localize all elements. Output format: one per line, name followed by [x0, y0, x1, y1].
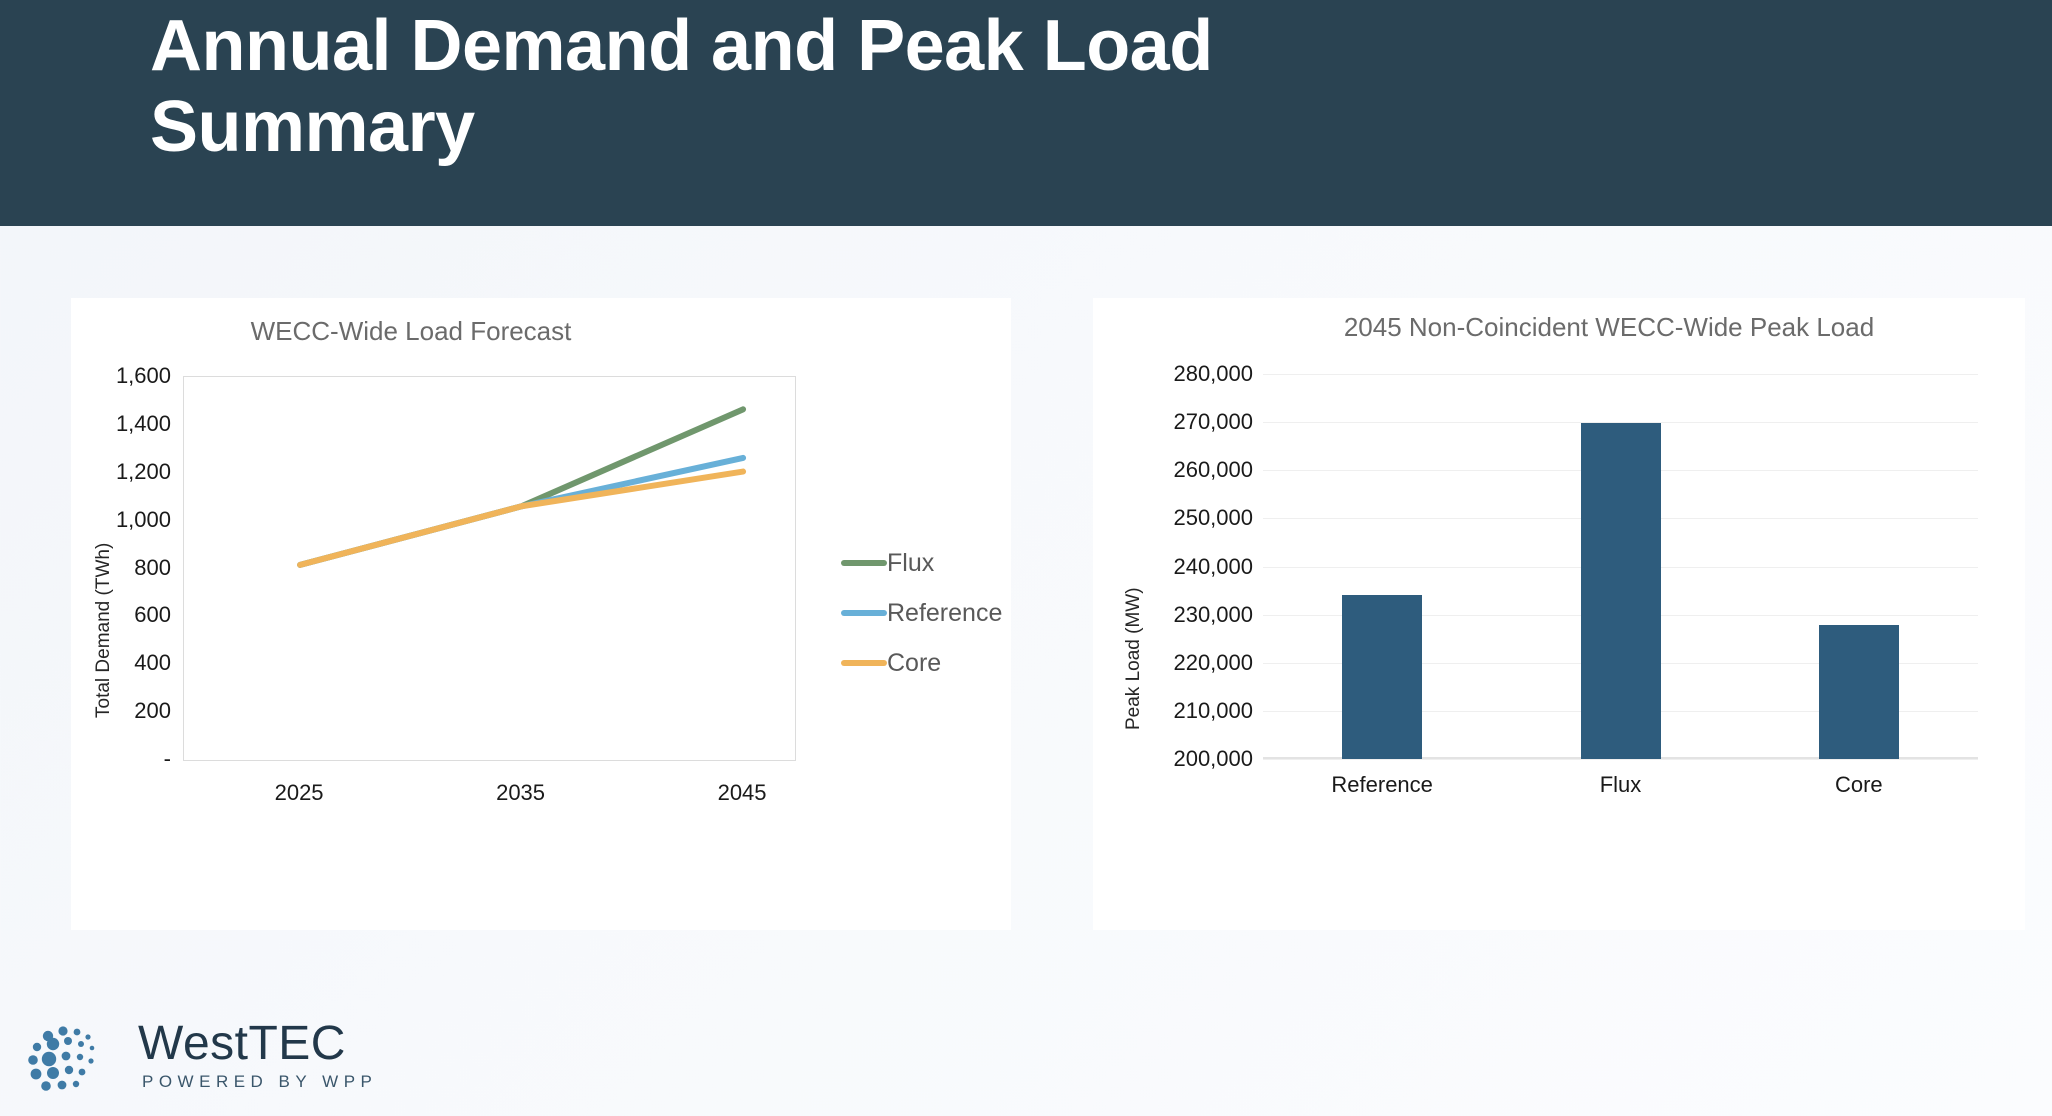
- y-tick-label: 1,600: [116, 363, 171, 389]
- legend-label: Core: [887, 649, 941, 678]
- y-tick-label: 280,000: [1173, 361, 1253, 387]
- y-tick-label: 230,000: [1173, 602, 1253, 628]
- bar-flux[interactable]: [1581, 423, 1661, 759]
- header-band: Annual Demand and Peak Load Summary: [0, 0, 2052, 226]
- legend-swatch-icon: [841, 560, 887, 566]
- bar-chart-title: 2045 Non-Coincident WECC-Wide Peak Load: [1143, 312, 2052, 343]
- dot-swirl-icon: [20, 1020, 130, 1100]
- page-title: Annual Demand and Peak Load Summary: [150, 6, 1750, 167]
- y-tick-label: 260,000: [1173, 457, 1253, 483]
- legend-item-core[interactable]: Core: [841, 638, 1002, 688]
- bar-chart-plot-area: [1263, 374, 1978, 759]
- legend-item-flux[interactable]: Flux: [841, 538, 1002, 588]
- bar-chart-x-tick-labels: ReferenceFluxCore: [1263, 772, 1978, 812]
- line-chart-x-tick-labels: 202520352045: [183, 780, 796, 820]
- y-tick-label: 270,000: [1173, 409, 1253, 435]
- line-series-core: [300, 472, 743, 565]
- legend-label: Flux: [887, 549, 934, 578]
- westtec-logo: WestTEC POWERED BY WPP: [20, 1020, 400, 1100]
- line-chart-plot-area: [183, 376, 796, 761]
- gridline: [1263, 759, 1978, 760]
- y-tick-label: 250,000: [1173, 505, 1253, 531]
- line-chart-y-tick-labels: 1,6001,4001,2001,000800600400200-: [61, 376, 171, 761]
- legend-swatch-icon: [841, 660, 887, 666]
- legend-item-reference[interactable]: Reference: [841, 588, 1002, 638]
- line-chart-card: WECC-Wide Load Forecast Total Demand (TW…: [71, 298, 1011, 930]
- line-chart-legend: FluxReferenceCore: [841, 538, 1002, 688]
- x-tick-label: 2025: [275, 780, 324, 806]
- line-chart-svg: [184, 377, 795, 760]
- bar-chart-card: 2045 Non-Coincident WECC-Wide Peak Load …: [1093, 298, 2025, 930]
- logo-tagline: POWERED BY WPP: [142, 1072, 377, 1092]
- y-tick-label: 240,000: [1173, 554, 1253, 580]
- bar-core[interactable]: [1819, 625, 1899, 759]
- line-chart-title: WECC-Wide Load Forecast: [0, 316, 881, 347]
- y-tick-label: 220,000: [1173, 650, 1253, 676]
- bar-chart-y-tick-labels: 280,000270,000260,000250,000240,000230,0…: [1113, 374, 1253, 759]
- y-tick-label: 200: [134, 698, 171, 724]
- y-tick-label: 600: [134, 602, 171, 628]
- y-tick-label: 1,200: [116, 459, 171, 485]
- logo-wordmark: WestTEC: [138, 1016, 346, 1071]
- line-series-flux: [300, 409, 743, 565]
- y-tick-label: 400: [134, 650, 171, 676]
- y-tick-label: -: [164, 746, 171, 772]
- legend-label: Reference: [887, 599, 1002, 628]
- x-tick-label: 2045: [718, 780, 767, 806]
- y-tick-label: 1,000: [116, 507, 171, 533]
- y-tick-label: 210,000: [1173, 698, 1253, 724]
- bar-reference[interactable]: [1342, 595, 1422, 759]
- x-tick-label: 2035: [496, 780, 545, 806]
- y-tick-label: 1,400: [116, 411, 171, 437]
- y-tick-label: 800: [134, 555, 171, 581]
- gridline: [1263, 374, 1978, 375]
- x-tick-label: Core: [1835, 772, 1883, 798]
- x-tick-label: Flux: [1600, 772, 1642, 798]
- legend-swatch-icon: [841, 610, 887, 616]
- x-tick-label: Reference: [1331, 772, 1433, 798]
- y-tick-label: 200,000: [1173, 746, 1253, 772]
